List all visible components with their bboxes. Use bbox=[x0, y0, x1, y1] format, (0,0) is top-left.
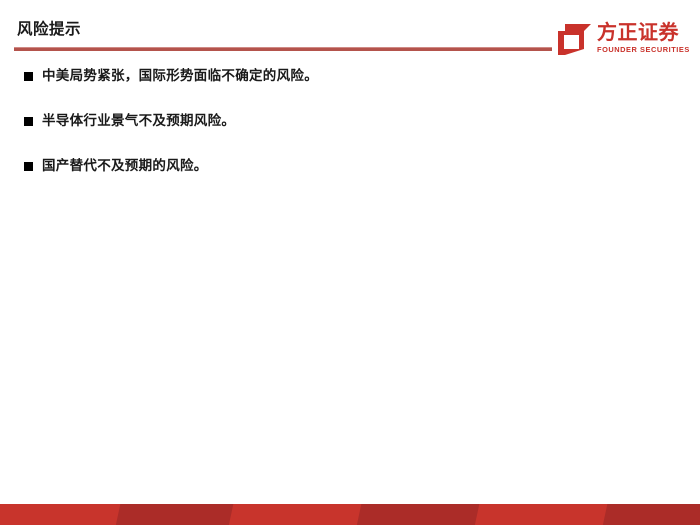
brand-name-en: FOUNDER SECURITIES bbox=[597, 45, 691, 55]
footer-bar-segment bbox=[0, 504, 123, 525]
footer-bar-segment bbox=[474, 504, 610, 525]
list-item-label: 中美局势紧张，国际形势面临不确定的风险。 bbox=[42, 66, 318, 86]
risk-bullet-list: 中美局势紧张，国际形势面临不确定的风险。 半导体行业景气不及预期风险。 国产替代… bbox=[0, 64, 700, 199]
list-item: 中美局势紧张，国际形势面临不确定的风险。 bbox=[0, 64, 700, 109]
footer-bar-segment bbox=[356, 504, 482, 525]
footer-bar-segment bbox=[228, 504, 364, 525]
footer-decorative-bar bbox=[0, 504, 700, 525]
title-divider bbox=[14, 47, 552, 51]
slide-canvas: 风险提示 方正证券 FOUNDER SECURITIES 中美局势紧张，国际形势… bbox=[0, 0, 700, 525]
brand-name-cn: 方正证券 bbox=[597, 22, 691, 44]
list-item-label: 半导体行业景气不及预期风险。 bbox=[42, 111, 235, 131]
square-bullet-icon bbox=[24, 72, 33, 81]
founder-securities-cube-logo-icon bbox=[558, 24, 591, 55]
list-item: 国产替代不及预期的风险。 bbox=[0, 154, 700, 199]
list-item: 半导体行业景气不及预期风险。 bbox=[0, 109, 700, 154]
footer-bar-segment bbox=[115, 504, 236, 525]
square-bullet-icon bbox=[24, 162, 33, 171]
page-title: 风险提示 bbox=[17, 22, 81, 38]
brand-logo: 方正证券 FOUNDER SECURITIES bbox=[556, 20, 690, 60]
square-bullet-icon bbox=[24, 117, 33, 126]
footer-bar-segment bbox=[602, 504, 700, 525]
brand-logo-text: 方正证券 FOUNDER SECURITIES bbox=[597, 22, 691, 55]
list-item-label: 国产替代不及预期的风险。 bbox=[42, 156, 208, 176]
